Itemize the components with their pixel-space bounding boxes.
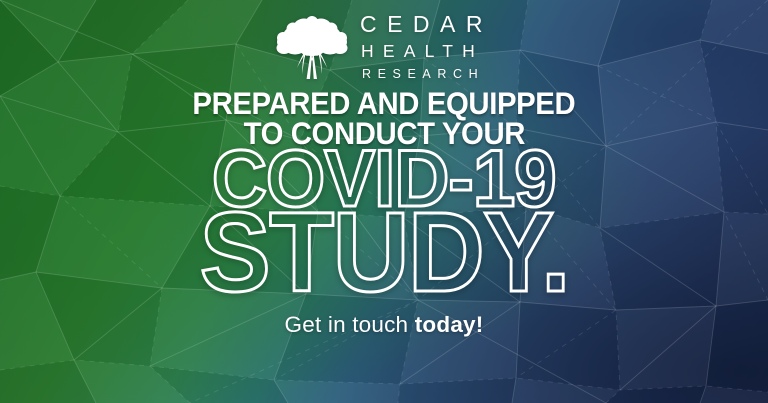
cedar-health-research-logo: CEDAR HEALTH RESEARCH	[275, 13, 493, 80]
cedar-tree-icon	[275, 14, 349, 80]
tagline-bold-text: today!	[415, 312, 484, 337]
tagline-light-text: Get in touch	[285, 312, 415, 337]
covid-study-banner: .f { fill:#ffffff; fill-opacity:.040; } …	[0, 0, 768, 403]
banner-content: CEDAR HEALTH RESEARCH PREPARED AND EQUIP…	[0, 0, 768, 403]
headline-block: PREPARED AND EQUIPPED TO CONDUCT YOUR CO…	[0, 89, 768, 300]
logo-word-cedar: CEDAR	[358, 13, 493, 36]
logo-word-research: RESEARCH	[358, 68, 484, 81]
tagline: Get in touch today!	[285, 312, 484, 338]
headline-study: STUDY.	[199, 205, 568, 300]
logo-word-health: HEALTH	[358, 43, 484, 61]
headline-line-1: PREPARED AND EQUIPPED	[193, 89, 576, 118]
logo-wordmark: CEDAR HEALTH RESEARCH	[358, 13, 493, 80]
